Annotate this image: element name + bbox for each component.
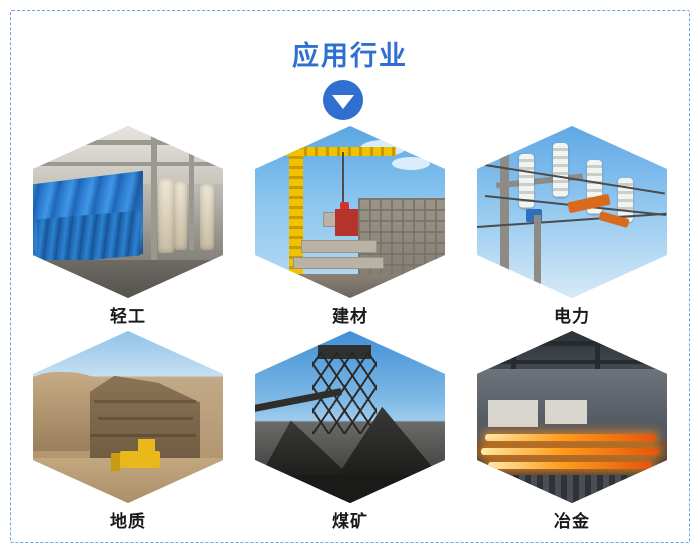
industry-grid: 轻工 建材: [18, 126, 682, 536]
chevron-down-circle-icon: [318, 78, 368, 122]
hexagon-image-building-materials: [255, 126, 445, 298]
industry-label: 电力: [472, 302, 672, 327]
industry-cell-light-industry[interactable]: 轻工: [28, 126, 228, 331]
page-title: 应用行业: [0, 34, 700, 73]
industry-cell-metallurgy[interactable]: 冶金: [472, 331, 672, 536]
illustration-quarry: [33, 331, 223, 503]
illustration-steel-billets: [477, 331, 667, 503]
illustration-textile-plant: [33, 126, 223, 298]
illustration-coal-heap: [255, 331, 445, 503]
industry-cell-power[interactable]: 电力: [472, 126, 672, 331]
industry-label: 轻工: [28, 302, 228, 327]
hexagon-image-coal-mine: [255, 331, 445, 503]
industry-cell-building-materials[interactable]: 建材: [250, 126, 450, 331]
industry-label: 建材: [250, 302, 450, 327]
industry-cell-coal-mine[interactable]: 煤矿: [250, 331, 450, 536]
hexagon-image-geology: [33, 331, 223, 503]
illustration-construction-crane: [255, 126, 445, 298]
industry-label: 地质: [28, 507, 228, 532]
application-industries-banner: 应用行业: [0, 0, 700, 553]
industry-label: 煤矿: [250, 507, 450, 532]
hexagon-image-metallurgy: [477, 331, 667, 503]
industry-cell-geology[interactable]: 地质: [28, 331, 228, 536]
hexagon-image-power: [477, 126, 667, 298]
illustration-power-insulators: [477, 126, 667, 298]
hexagon-image-light-industry: [33, 126, 223, 298]
industry-label: 冶金: [472, 507, 672, 532]
